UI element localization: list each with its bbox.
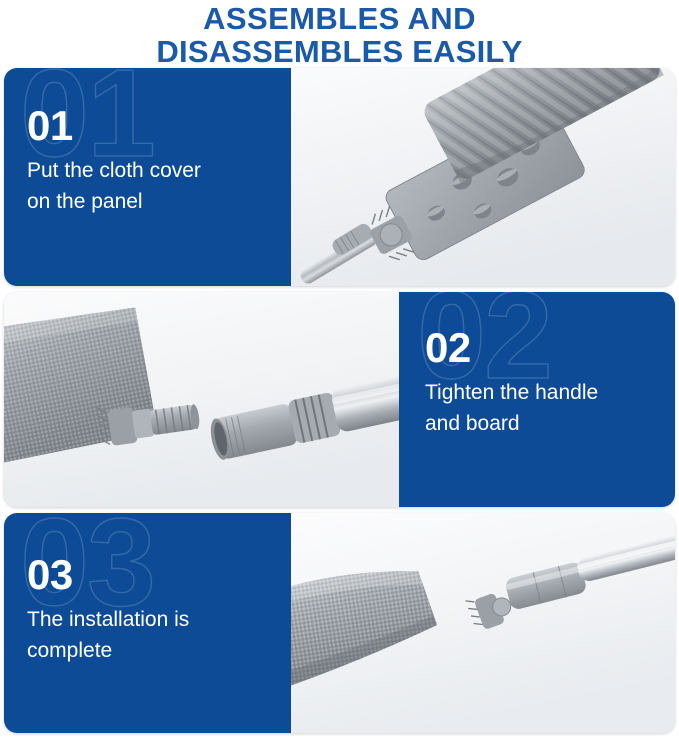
- step-card-03: 03 03 The installation is complete Fully…: [4, 513, 675, 733]
- step-01-description-line-1: Put the cloth cover: [27, 159, 201, 182]
- step-03-photo: Fully assembled gray microfiber duster h…: [291, 513, 675, 733]
- step-03-text-block: 03 03 The installation is complete: [4, 513, 291, 733]
- step-02-description-line-2: and board: [425, 412, 520, 435]
- step-01-description-line-2: on the panel: [27, 190, 143, 213]
- title-line-1: ASSEMBLES AND: [0, 2, 679, 35]
- step-03-number: 03: [27, 553, 291, 597]
- step-02-description-line-1: Tighten the handle: [425, 381, 598, 404]
- step-02-description: Tighten the handle and board: [425, 377, 675, 439]
- step-03-description-line-2: complete: [27, 639, 112, 662]
- step-01-text-block: 01 01 Put the cloth cover on the panel: [4, 68, 291, 286]
- page-title: ASSEMBLES AND DISASSEMBLES EASILY: [0, 0, 679, 68]
- assembled-duster-illustration: [291, 513, 675, 733]
- step-01-photo: Gray microfiber duster sleeve being fitt…: [291, 68, 675, 286]
- handle-and-board-illustration: [4, 292, 399, 507]
- step-01-description: Put the cloth cover on the panel: [27, 155, 277, 217]
- step-card-02: 02 02 Tighten the handle and board Cheni…: [4, 292, 675, 507]
- title-line-2: DISASSEMBLES EASILY: [0, 35, 679, 68]
- step-03-description-line-1: The installation is: [27, 608, 189, 631]
- steps-container: 01 01 Put the cloth cover on the panel G…: [0, 68, 679, 733]
- step-02-text-block: 02 02 Tighten the handle and board: [399, 292, 675, 507]
- step-card-01: 01 01 Put the cloth cover on the panel G…: [4, 68, 675, 286]
- step-02-photo: Chenille mop head with threaded screw co…: [4, 292, 399, 507]
- step-01-number: 01: [27, 104, 291, 148]
- step-02-number: 02: [425, 326, 675, 370]
- step-03-description: The installation is complete: [27, 604, 277, 666]
- duster-panel-illustration: [291, 68, 675, 286]
